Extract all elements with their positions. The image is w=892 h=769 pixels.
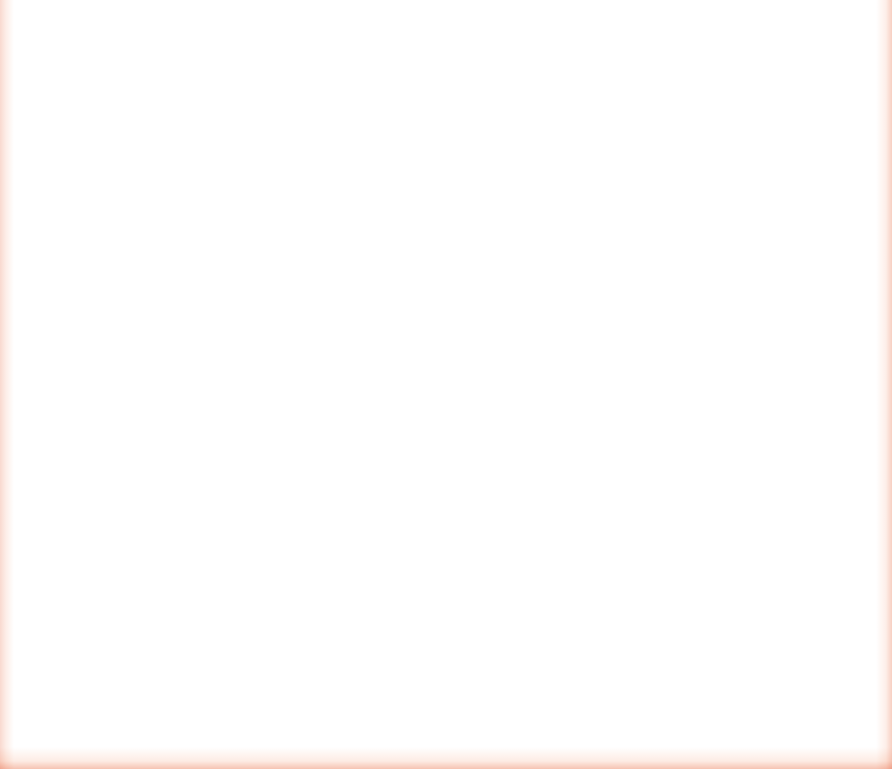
page-title: 2023中国(广州) 国际名酒展览会 [61,127,538,271]
light-streak [11,5,53,405]
highlight-strand [480,305,880,457]
ribbon-fringe [667,358,693,506]
ribbon-fringe [819,357,843,506]
highlight-strand [530,343,880,442]
event-date: 2023.6.2-4 [63,323,469,379]
message-line-2: 期待您的到来！ [201,633,666,689]
ribbon-fringe [793,320,835,506]
highlight-strand [510,273,880,391]
title-line-1: 2023中国(广州) [61,127,538,199]
ribbon-fringe [843,309,880,506]
lighthouse-sail-icon [56,37,124,101]
title-line-2: 国际名酒展览会 [61,199,538,271]
worldspirits-logo: worldspirits CHINA [56,37,335,101]
metallic-blob [676,61,788,165]
metallic-blob [604,55,772,207]
logo-wordmark-group: worldspirits CHINA [134,55,335,101]
invitation-message: 第30届中国（广州）国际名酒展， 期待您的到来！ [201,577,666,690]
highlight-strand [640,457,880,493]
logo-wordmark: worldspirits [134,55,335,86]
event-meta: 2023.6.2-4 广州·广交会展馆B区9.2-13.2号馆 50,000m2 [63,323,469,457]
orange-divider [11,506,880,522]
banner-blue-panel: worldspirits CHINA 2023中国(广州) 国际名酒展览会 20… [11,5,880,506]
message-line-1: 第30届中国（广州）国际名酒展， [201,577,666,633]
ribbon-fringe [765,367,785,506]
highlight-strand [560,383,880,454]
event-area: 50,000m2 [63,417,469,456]
event-venue: 广州·广交会展馆B区9.2-13.2号馆 [63,379,469,417]
ribbon-fringe [735,333,768,506]
exhibition-poster: worldspirits CHINA 2023中国(广州) 国际名酒展览会 20… [0,0,892,769]
highlight-strand [600,425,880,477]
area-unit-exponent: 2 [182,419,193,440]
area-value: 50,000m [63,421,182,452]
logo-subtitle: CHINA [134,89,335,99]
metallic-blob [638,23,730,103]
cream-message-panel: 第30届中国（广州）国际名酒展， 期待您的到来！ [11,520,880,748]
specular-highlight [644,45,684,71]
ribbon-fringe [865,338,880,506]
ribbon-fringe [701,387,717,506]
